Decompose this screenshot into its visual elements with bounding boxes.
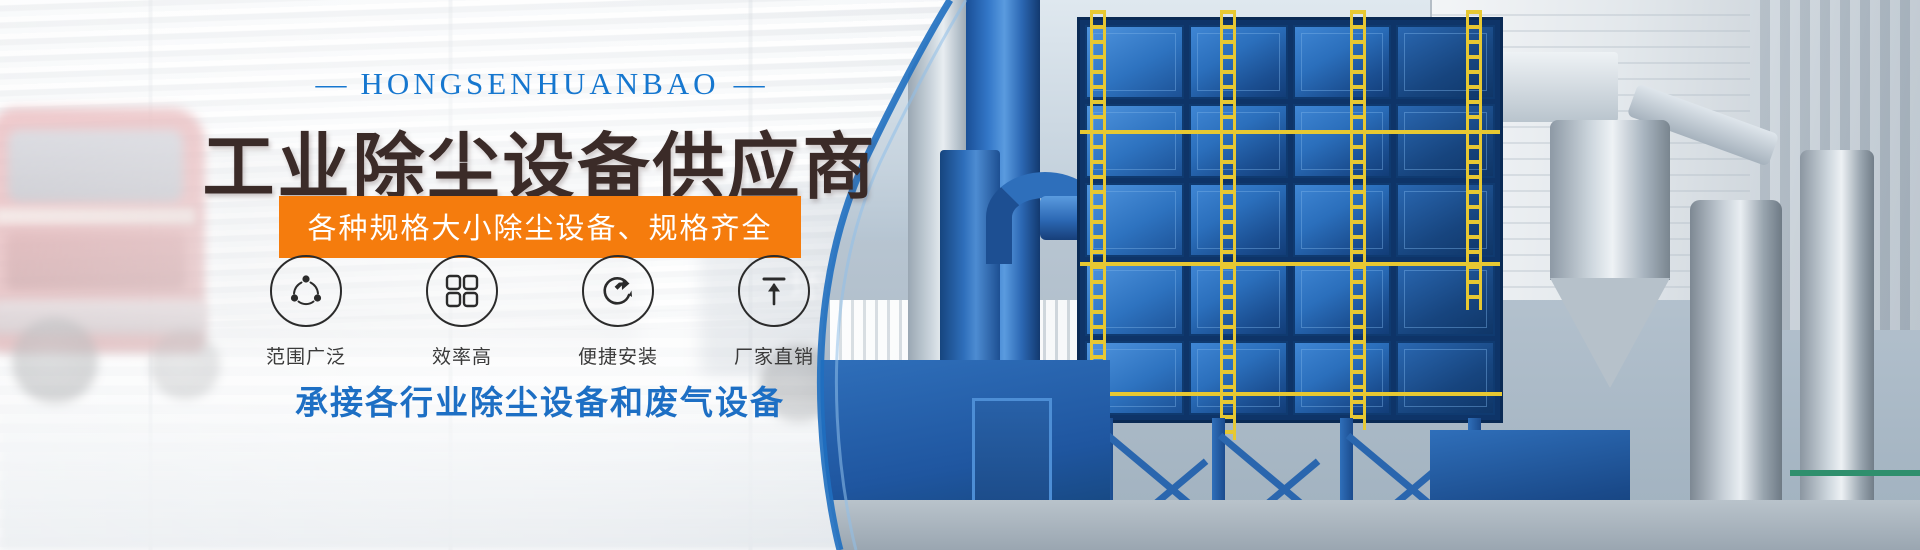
baghouse-cell: [1293, 262, 1392, 336]
feature-label: 范围广泛: [262, 342, 350, 369]
feature-icon-circle: [270, 255, 342, 327]
feature-item-install[interactable]: 便捷安装: [574, 255, 662, 369]
baghouse-cell: [1189, 183, 1288, 257]
tagline-text: 承接各行业除尘设备和废气设备: [0, 376, 1080, 424]
orange-subtitle-banner: 各种规格大小除尘设备、规格齐全: [279, 196, 800, 258]
steel-cylinder-tank: [1690, 200, 1782, 550]
eyebrow-label: HONGSENHUANBAO: [360, 66, 719, 101]
feature-icon-circle: [738, 255, 810, 327]
feature-label: 便捷安装: [574, 342, 662, 369]
banner-content: —HONGSENHUANBAO— 工业除尘设备供应商 各种规格大小除尘设备、规格…: [0, 0, 1180, 550]
baghouse-cell: [1293, 341, 1392, 415]
baghouse-cell: [1189, 25, 1288, 99]
baghouse-cell: [1189, 341, 1288, 415]
cyclone-cone: [1550, 278, 1670, 388]
eyebrow-dash-right: —: [734, 66, 765, 102]
hero-banner: 环保科技: [0, 0, 1920, 550]
baghouse-cell: [1293, 183, 1392, 257]
yellow-ladder: [1220, 10, 1236, 440]
yellow-ladder: [1350, 10, 1366, 430]
feature-item-factory-direct[interactable]: 厂家直销: [730, 255, 818, 369]
top-hopper: [1490, 52, 1618, 122]
eyebrow-dash-left: —: [315, 66, 346, 102]
baghouse-cell: [1396, 341, 1495, 415]
eyebrow-text: —HONGSENHUANBAO—: [0, 66, 1080, 102]
baghouse-cell: [1293, 25, 1392, 99]
feature-label: 厂家直销: [730, 342, 818, 369]
steel-cylinder-tank-far: [1800, 150, 1874, 550]
wrench-refresh-icon: [598, 271, 638, 311]
feature-icon-circle: [426, 255, 498, 327]
cyclone-separator: [1550, 120, 1670, 280]
grid-squares-icon: [443, 272, 481, 310]
arrow-up-to-bar-icon: [755, 272, 793, 310]
network-nodes-icon: [286, 271, 326, 311]
baghouse-cell: [1189, 262, 1288, 336]
yellow-ladder: [1466, 10, 1482, 310]
baghouse-cell: [1293, 104, 1392, 178]
green-railing: [1790, 470, 1920, 476]
feature-item-range[interactable]: 范围广泛: [262, 255, 350, 369]
baghouse-cell: [1189, 104, 1288, 178]
feature-icon-circle: [582, 255, 654, 327]
sub-banner-wrapper: 各种规格大小除尘设备、规格齐全: [0, 196, 1080, 258]
feature-item-efficiency[interactable]: 效率高: [418, 255, 506, 369]
feature-label: 效率高: [418, 342, 506, 369]
feature-list: 范围广泛 效率高: [0, 255, 1080, 369]
